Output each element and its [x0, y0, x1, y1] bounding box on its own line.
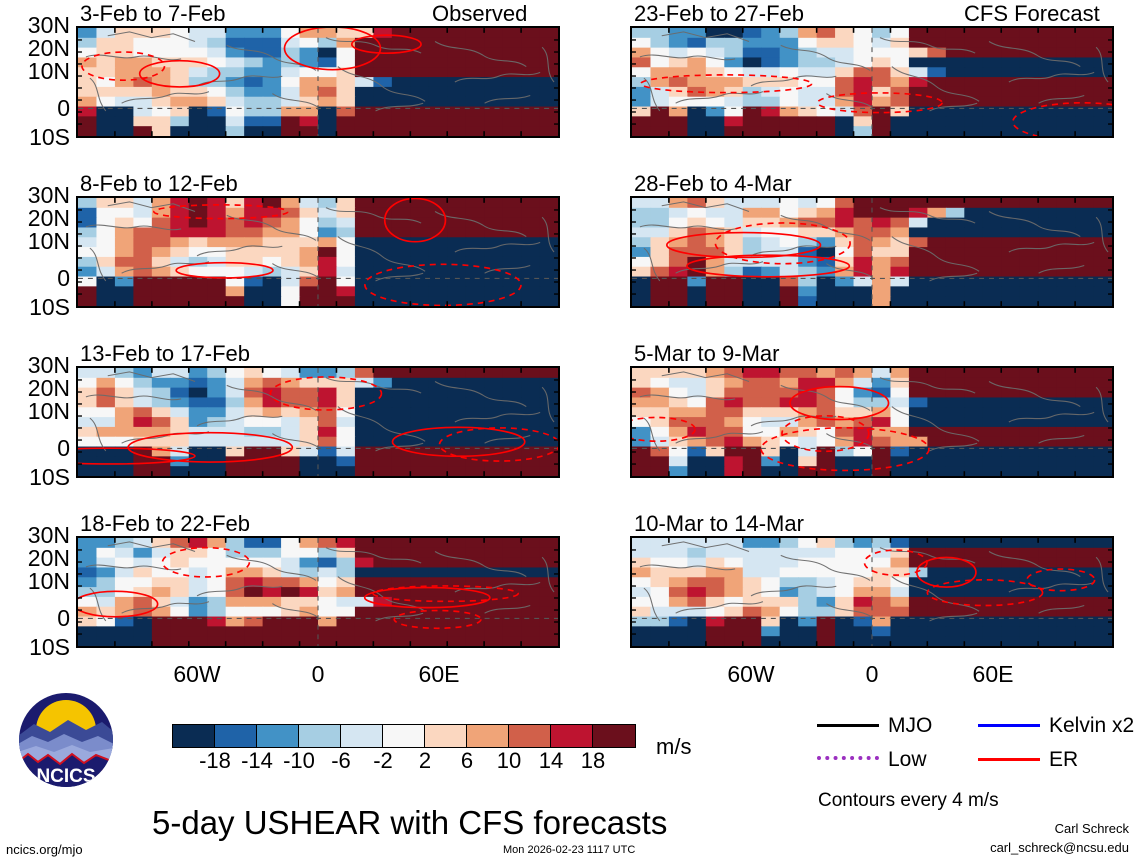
y-tick-label-20N-row3: 20N — [0, 377, 70, 400]
legend-item-low: Low — [817, 749, 927, 770]
panel-title-8: 10-Mar to 14-Mar — [634, 513, 804, 535]
legend-item-er: ER — [978, 749, 1078, 770]
colorbar-cell-8 — [509, 725, 551, 747]
x-tick-label-col1-0: 60W — [157, 663, 237, 686]
legend-line-kelvin — [978, 724, 1040, 727]
legend-line-low — [817, 756, 879, 764]
colorbar-cell-4 — [341, 725, 383, 747]
legend-label-mjo: MJO — [888, 715, 932, 736]
y-tick-label-0-row4: 0 — [0, 607, 70, 630]
y-tick-label-30N-row4: 30N — [0, 524, 70, 547]
y-tick-label-20N-row4: 20N — [0, 547, 70, 570]
y-tick-label-0-row1: 0 — [0, 97, 70, 120]
y-tick-label-10N-row3: 10N — [0, 400, 70, 423]
y-tick-label-10N-row1: 10N — [0, 60, 70, 83]
colorbar-cell-3 — [299, 725, 341, 747]
colorbar-cell-7 — [467, 725, 509, 747]
map-panel-4[interactable] — [76, 536, 560, 648]
author-email[interactable]: carl_schreck@ncsu.edu — [990, 841, 1129, 854]
y-tick-label-0-row2: 0 — [0, 267, 70, 290]
y-tick-label-30N-row3: 30N — [0, 354, 70, 377]
colorbar-unit-label: m/s — [656, 736, 691, 758]
x-tick-label-col2-2: 60E — [953, 663, 1033, 686]
y-tick-label-30N-row2: 30N — [0, 184, 70, 207]
y-tick-label-10S-row2: 10S — [0, 296, 70, 319]
map-panel-3[interactable] — [76, 366, 560, 478]
author-name: Carl Schreck — [1055, 822, 1129, 835]
y-tick-label-10N-row2: 10N — [0, 230, 70, 253]
y-tick-label-30N-row1: 30N — [0, 14, 70, 37]
panel-title-4: 18-Feb to 22-Feb — [80, 513, 250, 535]
y-tick-label-10S-row3: 10S — [0, 466, 70, 489]
y-tick-label-10N-row4: 10N — [0, 570, 70, 593]
ncics-logo: NCICS — [18, 692, 114, 788]
colorbar-cell-9 — [551, 725, 593, 747]
map-panel-5[interactable] — [630, 26, 1114, 138]
legend-label-er: ER — [1049, 749, 1078, 770]
column-label-cfs-forecast: CFS Forecast — [964, 3, 1100, 25]
map-shading-3 — [78, 368, 558, 476]
panel-title-2: 8-Feb to 12-Feb — [80, 173, 238, 195]
x-tick-label-col1-2: 60E — [399, 663, 479, 686]
map-shading-6 — [632, 198, 1112, 306]
colorbar-tick-9: 18 — [565, 750, 621, 772]
page-title: 5-day USHEAR with CFS forecasts — [152, 806, 667, 839]
map-shading-2 — [78, 198, 558, 306]
map-shading-5 — [632, 28, 1112, 136]
panel-title-7: 5-Mar to 9-Mar — [634, 343, 779, 365]
logo-text: NCICS — [36, 766, 95, 787]
colorbar-cell-1 — [215, 725, 257, 747]
colorbar-cell-10 — [593, 725, 635, 747]
y-tick-label-0-row3: 0 — [0, 437, 70, 460]
map-shading-7 — [632, 368, 1112, 476]
colorbar — [172, 724, 636, 748]
legend-line-mjo — [817, 724, 879, 727]
map-shading-4 — [78, 538, 558, 646]
x-tick-label-col2-0: 60W — [711, 663, 791, 686]
map-shading-1 — [78, 28, 558, 136]
column-label-observed: Observed — [432, 3, 527, 25]
map-panel-1[interactable] — [76, 26, 560, 138]
colorbar-cell-6 — [425, 725, 467, 747]
legend-item-kelvin: Kelvin x2 — [978, 715, 1134, 736]
site-link[interactable]: ncics.org/mjo — [6, 843, 83, 856]
colorbar-cell-5 — [383, 725, 425, 747]
y-tick-label-10S-row4: 10S — [0, 636, 70, 659]
legend-line-er — [978, 758, 1040, 761]
x-tick-label-col2-1: 0 — [832, 663, 912, 686]
panel-title-1: 3-Feb to 7-Feb — [80, 3, 226, 25]
contour-interval-note: Contours every 4 m/s — [818, 791, 999, 810]
colorbar-cell-2 — [257, 725, 299, 747]
y-tick-label-20N-row2: 20N — [0, 207, 70, 230]
panel-title-5: 23-Feb to 27-Feb — [634, 3, 804, 25]
timestamp: Mon 2026-02-23 1117 UTC — [503, 845, 635, 856]
legend-label-low: Low — [888, 749, 927, 770]
panel-title-6: 28-Feb to 4-Mar — [634, 173, 792, 195]
map-shading-8 — [632, 538, 1112, 646]
y-tick-label-20N-row1: 20N — [0, 37, 70, 60]
y-tick-label-10S-row1: 10S — [0, 126, 70, 149]
colorbar-cell-0 — [173, 725, 215, 747]
map-panel-7[interactable] — [630, 366, 1114, 478]
map-panel-2[interactable] — [76, 196, 560, 308]
panel-title-3: 13-Feb to 17-Feb — [80, 343, 250, 365]
legend-item-mjo: MJO — [817, 715, 932, 736]
map-panel-6[interactable] — [630, 196, 1114, 308]
x-tick-label-col1-1: 0 — [278, 663, 358, 686]
legend-label-kelvin: Kelvin x2 — [1049, 715, 1134, 736]
map-panel-8[interactable] — [630, 536, 1114, 648]
